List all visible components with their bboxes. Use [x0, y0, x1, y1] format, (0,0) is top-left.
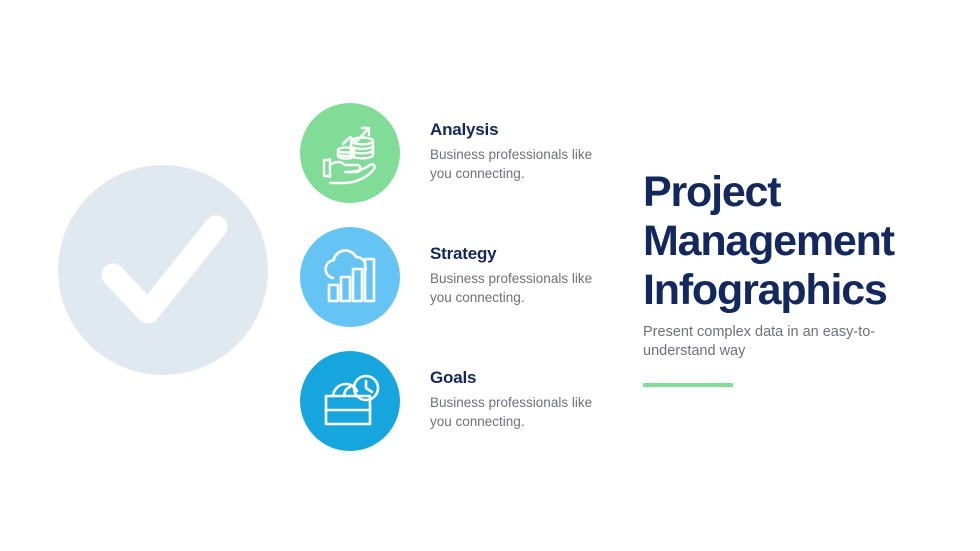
title-line-1: Project — [643, 168, 780, 216]
cloud-bar-chart-icon — [300, 227, 400, 327]
item-title: Strategy — [430, 244, 605, 264]
check-mark-icon — [58, 165, 268, 375]
page-title: Project Management Infographics — [643, 168, 943, 315]
list-item[interactable]: Analysis Business professionals like you… — [300, 103, 600, 227]
page-subtitle: Present complex data in an easy-to-under… — [643, 323, 893, 361]
list-item[interactable]: Strategy Business professionals like you… — [300, 227, 600, 351]
item-icon-analysis — [300, 103, 400, 203]
title-line-3: Infographics — [643, 266, 887, 314]
item-description: Business professionals like you connecti… — [430, 393, 605, 431]
item-title: Goals — [430, 368, 605, 388]
item-text-analysis: Analysis Business professionals like you… — [430, 120, 605, 183]
headline-block: Project Management Infographics Present … — [643, 168, 943, 387]
infographic-slide: Analysis Business professionals like you… — [0, 0, 980, 551]
box-clock-icon — [300, 351, 400, 451]
item-icon-strategy — [300, 227, 400, 327]
title-line-2: Management — [643, 217, 894, 265]
list-item[interactable]: Goals Business professionals like you co… — [300, 351, 600, 475]
item-description: Business professionals like you connecti… — [430, 269, 605, 307]
feature-list: Analysis Business professionals like you… — [300, 103, 600, 475]
item-description: Business professionals like you connecti… — [430, 145, 605, 183]
check-badge — [58, 165, 268, 375]
item-icon-goals — [300, 351, 400, 451]
item-text-strategy: Strategy Business professionals like you… — [430, 244, 605, 307]
item-title: Analysis — [430, 120, 605, 140]
hand-holding-coins-growth-icon — [300, 103, 400, 203]
accent-divider — [643, 383, 733, 387]
item-text-goals: Goals Business professionals like you co… — [430, 368, 605, 431]
